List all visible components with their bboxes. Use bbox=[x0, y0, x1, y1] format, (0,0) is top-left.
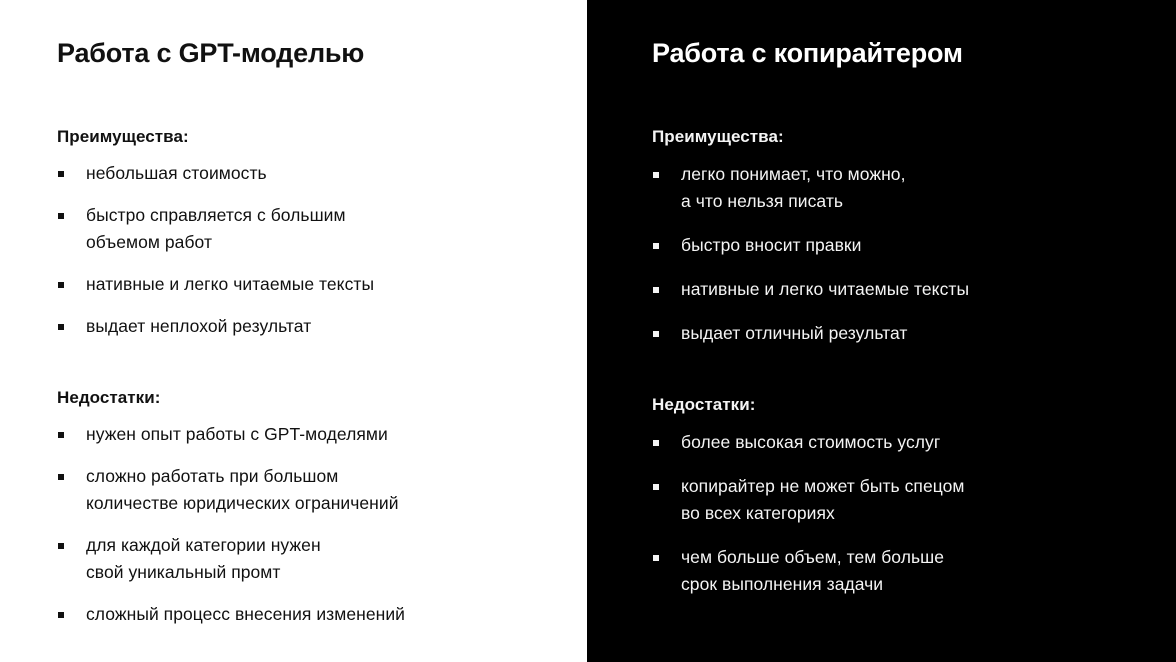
square-bullet-icon bbox=[653, 172, 659, 178]
list-item: нативные и легко читаемые тексты bbox=[652, 276, 1146, 303]
square-bullet-icon bbox=[58, 282, 64, 288]
comparison-slide: Работа с GPT-моделью Преимущества: небол… bbox=[0, 0, 1176, 662]
list-item-label: нужен опыт работы с GPT-моделями bbox=[86, 421, 547, 448]
square-bullet-icon bbox=[58, 543, 64, 549]
list-item: копирайтер не может быть спецом во всех … bbox=[652, 473, 1146, 527]
panel-gpt-model-drawbacks-heading: Недостатки: bbox=[57, 387, 547, 409]
panel-gpt-model-drawbacks-list: нужен опыт работы с GPT-моделями сложно … bbox=[57, 421, 547, 628]
list-item: сложно работать при большом количестве ю… bbox=[57, 463, 547, 517]
list-item-label: небольшая стоимость bbox=[86, 160, 547, 187]
list-item: легко понимает, что можно, а что нельзя … bbox=[652, 161, 1146, 215]
list-item-label: быстро справляется с большим объемом раб… bbox=[86, 202, 547, 256]
list-item-label: выдает неплохой результат bbox=[86, 313, 547, 340]
list-item: выдает отличный результат bbox=[652, 320, 1146, 347]
square-bullet-icon bbox=[653, 484, 659, 490]
panel-copywriter-drawbacks-list: более высокая стоимость услуг копирайтер… bbox=[652, 429, 1146, 598]
list-item-label: чем больше объем, тем больше срок выполн… bbox=[681, 544, 1146, 598]
list-item-label: сложно работать при большом количестве ю… bbox=[86, 463, 547, 517]
square-bullet-icon bbox=[58, 474, 64, 480]
panel-gpt-model-advantages-heading: Преимущества: bbox=[57, 126, 547, 148]
list-item-label: легко понимает, что можно, а что нельзя … bbox=[681, 161, 1146, 215]
square-bullet-icon bbox=[58, 213, 64, 219]
panel-copywriter: Работа с копирайтером Преимущества: легк… bbox=[587, 0, 1176, 662]
panel-copywriter-title: Работа с копирайтером bbox=[652, 36, 1146, 70]
list-item: выдает неплохой результат bbox=[57, 313, 547, 340]
list-item: нужен опыт работы с GPT-моделями bbox=[57, 421, 547, 448]
panel-copywriter-drawbacks-heading: Недостатки: bbox=[652, 394, 1146, 416]
list-item-label: нативные и легко читаемые тексты bbox=[681, 276, 1146, 303]
list-item: небольшая стоимость bbox=[57, 160, 547, 187]
square-bullet-icon bbox=[58, 612, 64, 618]
list-item-label: сложный процесс внесения изменений bbox=[86, 601, 547, 628]
list-item-label: быстро вносит правки bbox=[681, 232, 1146, 259]
list-item: сложный процесс внесения изменений bbox=[57, 601, 547, 628]
list-item: нативные и легко читаемые тексты bbox=[57, 271, 547, 298]
square-bullet-icon bbox=[58, 432, 64, 438]
panel-gpt-model-advantages-list: небольшая стоимость быстро справляется с… bbox=[57, 160, 547, 340]
panel-gpt-model-title: Работа с GPT-моделью bbox=[57, 36, 547, 70]
list-item: для каждой категории нужен свой уникальн… bbox=[57, 532, 547, 586]
list-item-label: копирайтер не может быть спецом во всех … bbox=[681, 473, 1146, 527]
list-item: быстро вносит правки bbox=[652, 232, 1146, 259]
list-item: чем больше объем, тем больше срок выполн… bbox=[652, 544, 1146, 598]
square-bullet-icon bbox=[58, 324, 64, 330]
panel-copywriter-advantages-heading: Преимущества: bbox=[652, 126, 1146, 148]
square-bullet-icon bbox=[653, 287, 659, 293]
panel-gpt-model: Работа с GPT-моделью Преимущества: небол… bbox=[0, 0, 587, 662]
square-bullet-icon bbox=[653, 331, 659, 337]
list-item: быстро справляется с большим объемом раб… bbox=[57, 202, 547, 256]
square-bullet-icon bbox=[58, 171, 64, 177]
list-item-label: выдает отличный результат bbox=[681, 320, 1146, 347]
square-bullet-icon bbox=[653, 555, 659, 561]
list-item-label: для каждой категории нужен свой уникальн… bbox=[86, 532, 547, 586]
panel-copywriter-advantages-list: легко понимает, что можно, а что нельзя … bbox=[652, 161, 1146, 347]
square-bullet-icon bbox=[653, 243, 659, 249]
list-item-label: более высокая стоимость услуг bbox=[681, 429, 1146, 456]
square-bullet-icon bbox=[653, 440, 659, 446]
list-item-label: нативные и легко читаемые тексты bbox=[86, 271, 547, 298]
list-item: более высокая стоимость услуг bbox=[652, 429, 1146, 456]
